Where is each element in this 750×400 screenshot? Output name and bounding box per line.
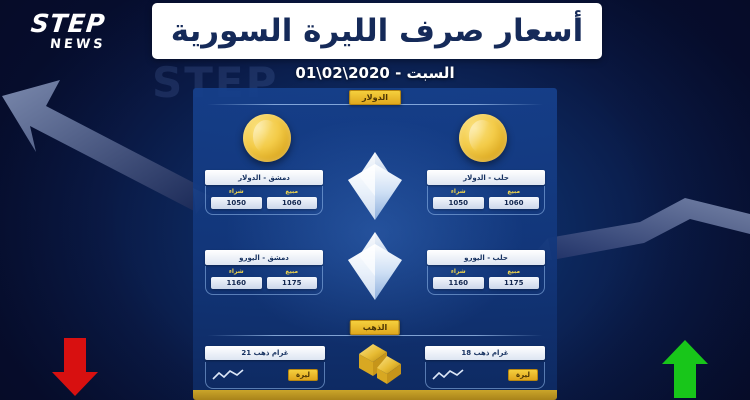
- rate-card-body: شراء 1050 مبيع 1060: [427, 186, 545, 215]
- rate-cell: مبيع 1175: [267, 268, 318, 289]
- rate-cell: شراء 1160: [211, 268, 262, 289]
- gold-coin-icon: [459, 114, 507, 162]
- rate-cell-caption: مبيع: [507, 268, 520, 275]
- rate-card-label: دمشق - اليورو: [205, 250, 323, 265]
- rate-cell: مبيع 1060: [267, 188, 318, 209]
- rate-cell-value: 1060: [267, 197, 318, 209]
- rate-cell-caption: مبيع: [285, 188, 298, 195]
- gold-card-chip: ليرة: [288, 369, 318, 381]
- rates-panel: الدولار دمشق - الدولار شراء 1050 مبيع 10…: [193, 88, 557, 400]
- rate-cell-caption: شراء: [451, 188, 466, 195]
- gold-card-label: غرام ذهب 21: [205, 346, 325, 360]
- rate-card[interactable]: حلب - الدولار شراء 1050 مبيع 1060: [427, 170, 545, 215]
- gold-coin-icon: [243, 114, 291, 162]
- gold-card[interactable]: غرام ذهب 21 ليرة: [205, 346, 325, 389]
- rate-card-label: دمشق - الدولار: [205, 170, 323, 185]
- section-badge-gold: الذهب: [350, 320, 400, 335]
- sparkline-icon: [212, 368, 244, 382]
- diamond-gem-icon: [346, 150, 404, 222]
- rate-card-body: شراء 1050 مبيع 1060: [205, 186, 323, 215]
- rate-cell-value: 1060: [489, 197, 540, 209]
- section-badge-currency: الدولار: [349, 90, 401, 105]
- page-title: أسعار صرف الليرة السورية: [171, 16, 583, 47]
- rate-cell-value: 1175: [489, 277, 540, 289]
- gold-card-body: ليرة: [205, 362, 325, 389]
- rate-cell: مبيع 1060: [489, 188, 540, 209]
- rate-cell-caption: شراء: [451, 268, 466, 275]
- rate-cell: شراء 1050: [433, 188, 484, 209]
- rate-card-label: حلب - اليورو: [427, 250, 545, 265]
- rate-card[interactable]: دمشق - الدولار شراء 1050 مبيع 1060: [205, 170, 323, 215]
- rate-card-label: حلب - الدولار: [427, 170, 545, 185]
- rate-cell-caption: شراء: [229, 188, 244, 195]
- rate-cell-value: 1160: [433, 277, 484, 289]
- rate-cell-value: 1050: [211, 197, 262, 209]
- gold-card-label: غرام ذهب 18: [425, 346, 545, 360]
- sparkline-icon: [432, 368, 464, 382]
- rate-cell: شراء 1160: [433, 268, 484, 289]
- rate-cell-caption: شراء: [229, 268, 244, 275]
- rate-cell-value: 1160: [211, 277, 262, 289]
- panel-bottom-strip: [193, 390, 557, 400]
- date-label: السبت - 2020\02\01: [0, 64, 750, 82]
- rate-card[interactable]: دمشق - اليورو شراء 1160 مبيع 1175: [205, 250, 323, 295]
- rate-cell-value: 1050: [433, 197, 484, 209]
- gold-card-chip: ليرة: [508, 369, 538, 381]
- section-divider-gold: [207, 335, 543, 336]
- gold-bars-icon: [343, 340, 407, 386]
- diamond-gem-icon: [346, 230, 404, 302]
- rate-cell-caption: مبيع: [285, 268, 298, 275]
- rate-card-body: شراء 1160 مبيع 1175: [427, 266, 545, 295]
- page-title-box: أسعار صرف الليرة السورية: [152, 3, 602, 59]
- rate-card[interactable]: حلب - اليورو شراء 1160 مبيع 1175: [427, 250, 545, 295]
- news-graphic: STEP: [0, 0, 750, 400]
- gold-card-body: ليرة: [425, 362, 545, 389]
- logo-news-text: NEWS: [50, 38, 107, 51]
- rate-card-body: شراء 1160 مبيع 1175: [205, 266, 323, 295]
- rate-cell: مبيع 1175: [489, 268, 540, 289]
- rate-cell: شراء 1050: [211, 188, 262, 209]
- gold-card[interactable]: غرام ذهب 18 ليرة: [425, 346, 545, 389]
- logo-step-text: STEP: [29, 11, 106, 36]
- step-news-logo: STEP NEWS: [14, 8, 122, 54]
- rate-cell-value: 1175: [267, 277, 318, 289]
- rate-cell-caption: مبيع: [507, 188, 520, 195]
